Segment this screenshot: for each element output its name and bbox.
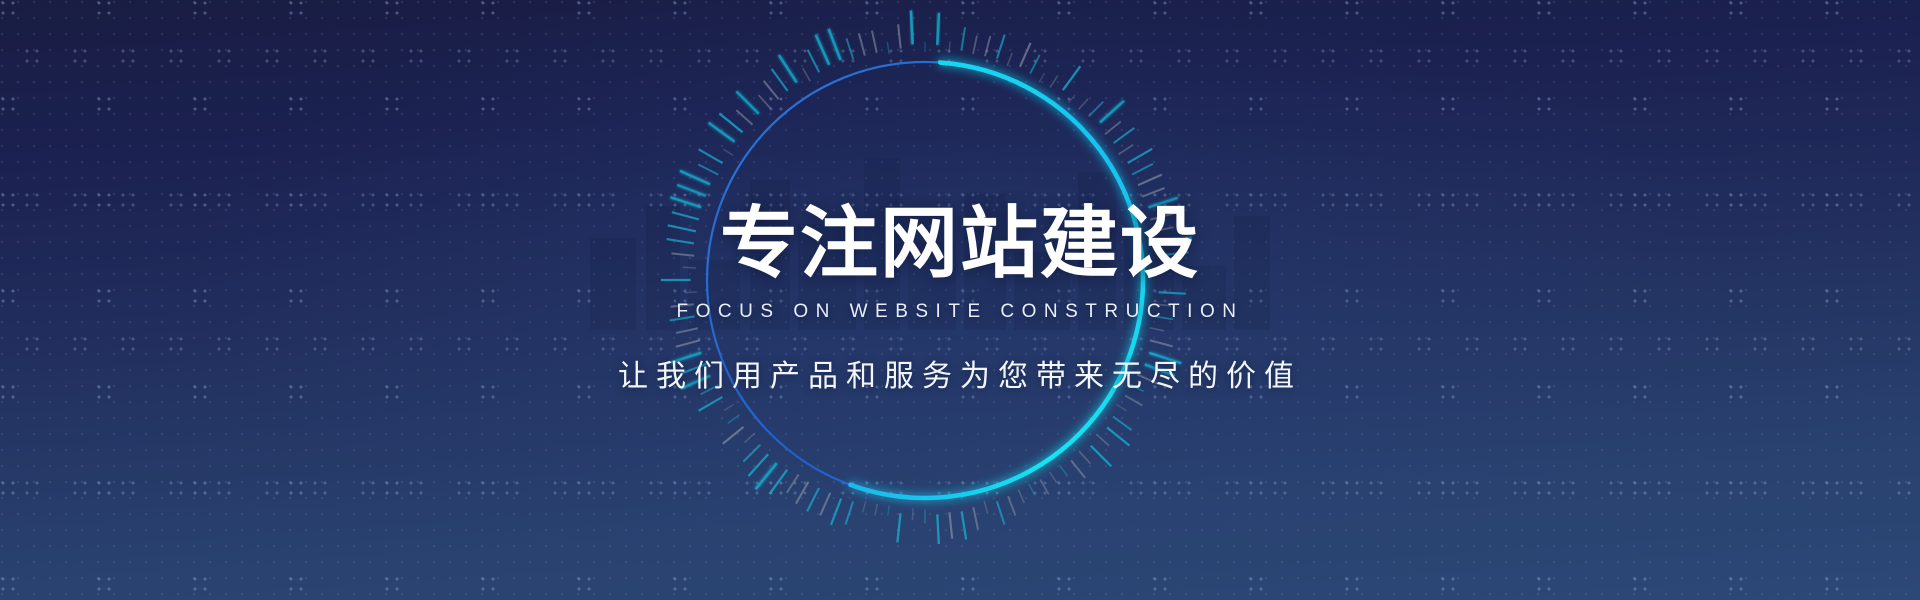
page-tagline-chinese: 让我们用产品和服务为您带来无尽的价值 — [618, 351, 1302, 395]
hero-copy-block: 专注网站建设 FOCUS ON WEBSITE CONSTRUCTION 让我们… — [0, 0, 1920, 600]
page-subtitle-english: FOCUS ON WEBSITE CONSTRUCTION — [677, 301, 1244, 323]
page-title: 专注网站建设 — [720, 205, 1200, 283]
hero-banner: 专注网站建设 FOCUS ON WEBSITE CONSTRUCTION 让我们… — [0, 0, 1920, 600]
